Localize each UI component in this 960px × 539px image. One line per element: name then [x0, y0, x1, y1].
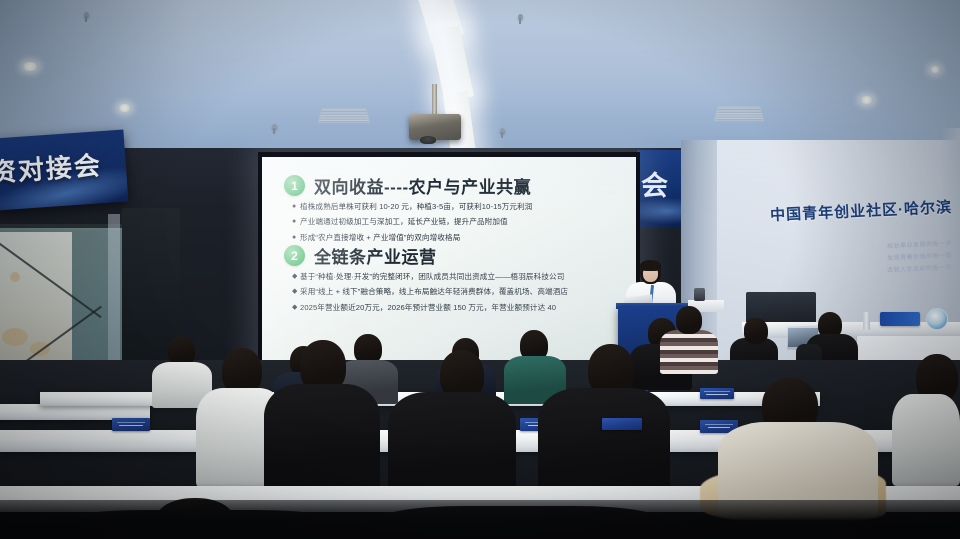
attendee-body	[264, 384, 380, 492]
bullet-marker-icon: ●	[292, 203, 300, 211]
sprinkler-icon	[84, 12, 89, 17]
section-number-badge: 1	[284, 175, 305, 196]
slide-bullet: ● 植株成熟后单株可获利 10-20 元，种植3-5亩，可获利10-15万元利润	[292, 203, 632, 211]
section-title: 全链条产业运营	[314, 243, 437, 268]
round-emblem-icon	[926, 308, 948, 330]
bullet-text: 采用“线上 + 线下”融合策略，线上布局触达年轻消费群体，覆盖机场、高端酒店	[300, 288, 568, 296]
slide-section-heading-1: 1 双向收益----农户与产业共赢	[284, 173, 531, 198]
foreground-shadow	[0, 500, 960, 539]
downlight-icon	[118, 104, 131, 112]
projector-mount-icon	[432, 84, 437, 118]
downlight-icon	[930, 66, 940, 73]
bullet-text: 产业端通过初级加工与深加工，延长产业链，提升产品附加值	[300, 218, 508, 226]
presentation-slide: 1 双向收益----农户与产业共赢 ● 植株成熟后单株可获利 10-20 元，种…	[262, 157, 636, 362]
bullet-text: 2025年营业额近20万元，2026年预计营业额 150 万元，年营业额预计达 …	[300, 304, 556, 312]
name-placard	[112, 418, 150, 431]
ceiling-projector-icon	[409, 114, 461, 140]
slide-bullet: ◆ 采用“线上 + 线下”融合策略，线上布局触达年轻消费群体，覆盖机场、高端酒店	[292, 288, 636, 296]
attendee-body	[538, 388, 670, 496]
name-placard	[602, 418, 642, 430]
slide-bullet: ● 产业端通过初级加工与深加工，延长产业链，提升产品附加值	[292, 218, 632, 226]
presenter-hair	[640, 260, 661, 271]
section-title: 双向收益----农户与产业共赢	[314, 173, 531, 198]
bullet-marker-icon: ◆	[292, 288, 300, 296]
name-placard	[700, 388, 734, 399]
blue-sign-icon	[880, 312, 920, 326]
sprinkler-icon	[272, 124, 277, 129]
attendee-head	[744, 318, 768, 344]
bullet-text: 植株成熟后单株可获利 10-20 元，种植3-5亩，可获利10-15万元利润	[300, 203, 533, 211]
event-banner-right-sliver: 会	[637, 150, 681, 228]
downlight-icon	[22, 62, 38, 71]
slide-bullet-list-2: ◆ 基于“种植·处理·开发”的完整闭环，团队成员共同出资成立——梧羽辰科技公司 …	[292, 273, 636, 319]
bullet-marker-icon: ◆	[292, 304, 300, 312]
ceiling-right-shading	[710, 0, 960, 152]
conference-room-scene: 中国青年创业社区·哈尔滨 规划事业发展的每一步 发现青春价值的每一面 造就人生出…	[0, 0, 960, 539]
sprinkler-icon	[500, 128, 505, 133]
poster-graphic	[2, 328, 28, 346]
slide-bullet: ● 形成“农户直接增收 + 产业增值”的双向增收格局	[292, 234, 632, 242]
banner-right-text: 会	[641, 164, 668, 203]
sprinkler-icon	[518, 14, 523, 19]
side-table-equipment	[694, 288, 705, 301]
bullet-marker-icon: ●	[292, 234, 300, 242]
air-vent-icon	[318, 108, 371, 123]
bullet-marker-icon: ◆	[292, 273, 300, 281]
attendee-head	[676, 306, 702, 334]
downlight-icon	[860, 96, 873, 104]
poster-graphic	[10, 272, 20, 282]
bullet-marker-icon: ●	[292, 218, 300, 226]
attendee-body-striped	[660, 330, 718, 374]
slide-section-heading-2: 2 全链条产业运营	[284, 243, 437, 268]
attendee-body	[388, 392, 516, 496]
slide-bullet: ◆ 基于“种植·处理·开发”的完整闭环，团队成员共同出资成立——梧羽辰科技公司	[292, 273, 636, 281]
water-bottle-icon	[863, 312, 870, 330]
bullet-text: 基于“种植·处理·开发”的完整闭环，团队成员共同出资成立——梧羽辰科技公司	[300, 273, 564, 281]
attendee-body	[892, 394, 960, 486]
bullet-text: 形成“农户直接增收 + 产业增值”的双向增收格局	[300, 234, 460, 242]
slide-bullet: ◆ 2025年营业额近20万元，2026年预计营业额 150 万元，年营业额预计…	[292, 304, 636, 312]
air-vent-icon	[714, 106, 764, 121]
event-banner-left: 资对接会	[0, 129, 128, 210]
section-number-badge: 2	[284, 245, 305, 266]
